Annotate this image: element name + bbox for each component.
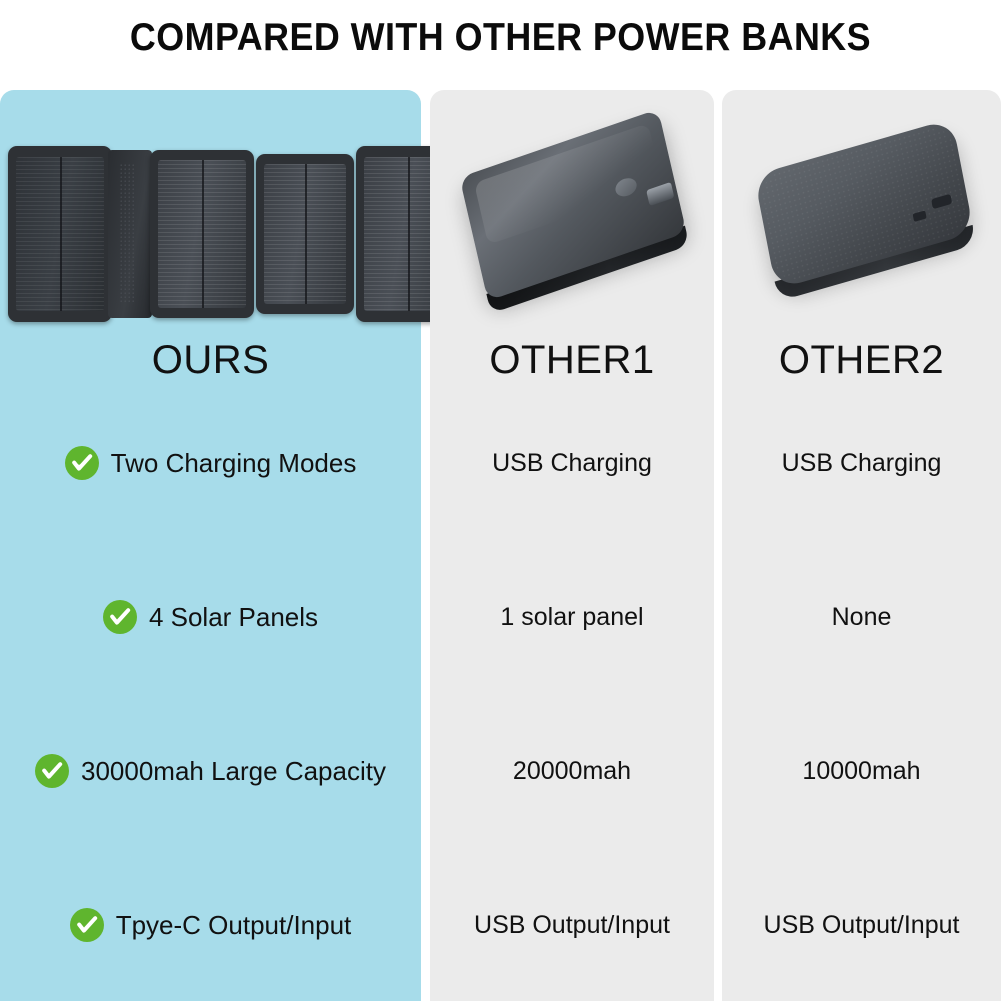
feature-label: Tpye-C Output/Input (116, 910, 352, 941)
comparison-columns: OURS Two Charging Modes 4 Solar Panels 3… (0, 90, 1001, 1001)
feature-row: 20000mah (430, 750, 714, 792)
feature-row: 10000mah (722, 750, 1001, 792)
check-icon (70, 908, 104, 942)
panel-hinge (108, 150, 152, 318)
black-power-bank-icon (459, 109, 686, 301)
solar-panel-2 (150, 150, 254, 318)
feature-rows-other1: USB Charging 1 solar panel 20000mah USB … (430, 410, 714, 1001)
feature-row: USB Output/Input (430, 904, 714, 946)
feature-label: 4 Solar Panels (149, 602, 318, 633)
check-icon (65, 446, 99, 480)
check-icon (35, 754, 69, 788)
column-header-other1: OTHER1 (430, 338, 714, 383)
product-image-other1 (430, 90, 714, 330)
column-header-other2: OTHER2 (722, 338, 1001, 383)
feature-label: 1 solar panel (500, 603, 643, 632)
feature-label: Two Charging Modes (111, 448, 357, 479)
feature-label: USB Charging (782, 449, 942, 478)
feature-row: None (722, 596, 1001, 638)
column-ours: OURS Two Charging Modes 4 Solar Panels 3… (0, 90, 421, 1001)
feature-rows-ours: Two Charging Modes 4 Solar Panels 30000m… (0, 410, 421, 1001)
feature-label: 10000mah (802, 757, 920, 786)
folding-solar-panel-icon (8, 138, 408, 328)
feature-row: Tpye-C Output/Input (0, 904, 421, 946)
column-other1: OTHER1 USB Charging 1 solar panel 20000m… (430, 90, 714, 1001)
feature-row: Two Charging Modes (0, 442, 421, 484)
feature-label: USB Charging (492, 449, 652, 478)
feature-label: None (832, 603, 892, 632)
feature-label: USB Output/Input (474, 911, 670, 940)
feature-label: 30000mah Large Capacity (81, 756, 386, 787)
solar-panel-1 (8, 146, 112, 322)
feature-row: USB Charging (430, 442, 714, 484)
check-icon (103, 600, 137, 634)
solar-panel-3 (256, 154, 354, 314)
feature-row: 4 Solar Panels (0, 596, 421, 638)
column-other2: OTHER2 USB Charging None 10000mah USB Ou… (722, 90, 1001, 1001)
feature-row: 30000mah Large Capacity (0, 750, 421, 792)
feature-label: USB Output/Input (764, 911, 960, 940)
feature-row: 1 solar panel (430, 596, 714, 638)
feature-rows-other2: USB Charging None 10000mah USB Output/In… (722, 410, 1001, 1001)
column-header-ours: OURS (0, 338, 421, 383)
feature-row: USB Output/Input (722, 904, 1001, 946)
feature-row: USB Charging (722, 442, 1001, 484)
product-image-other2 (722, 90, 1001, 330)
page-title: COMPARED WITH OTHER POWER BANKS (40, 16, 961, 60)
feature-label: 20000mah (513, 757, 631, 786)
product-image-ours (0, 90, 421, 330)
gray-power-bank-icon (753, 118, 973, 289)
